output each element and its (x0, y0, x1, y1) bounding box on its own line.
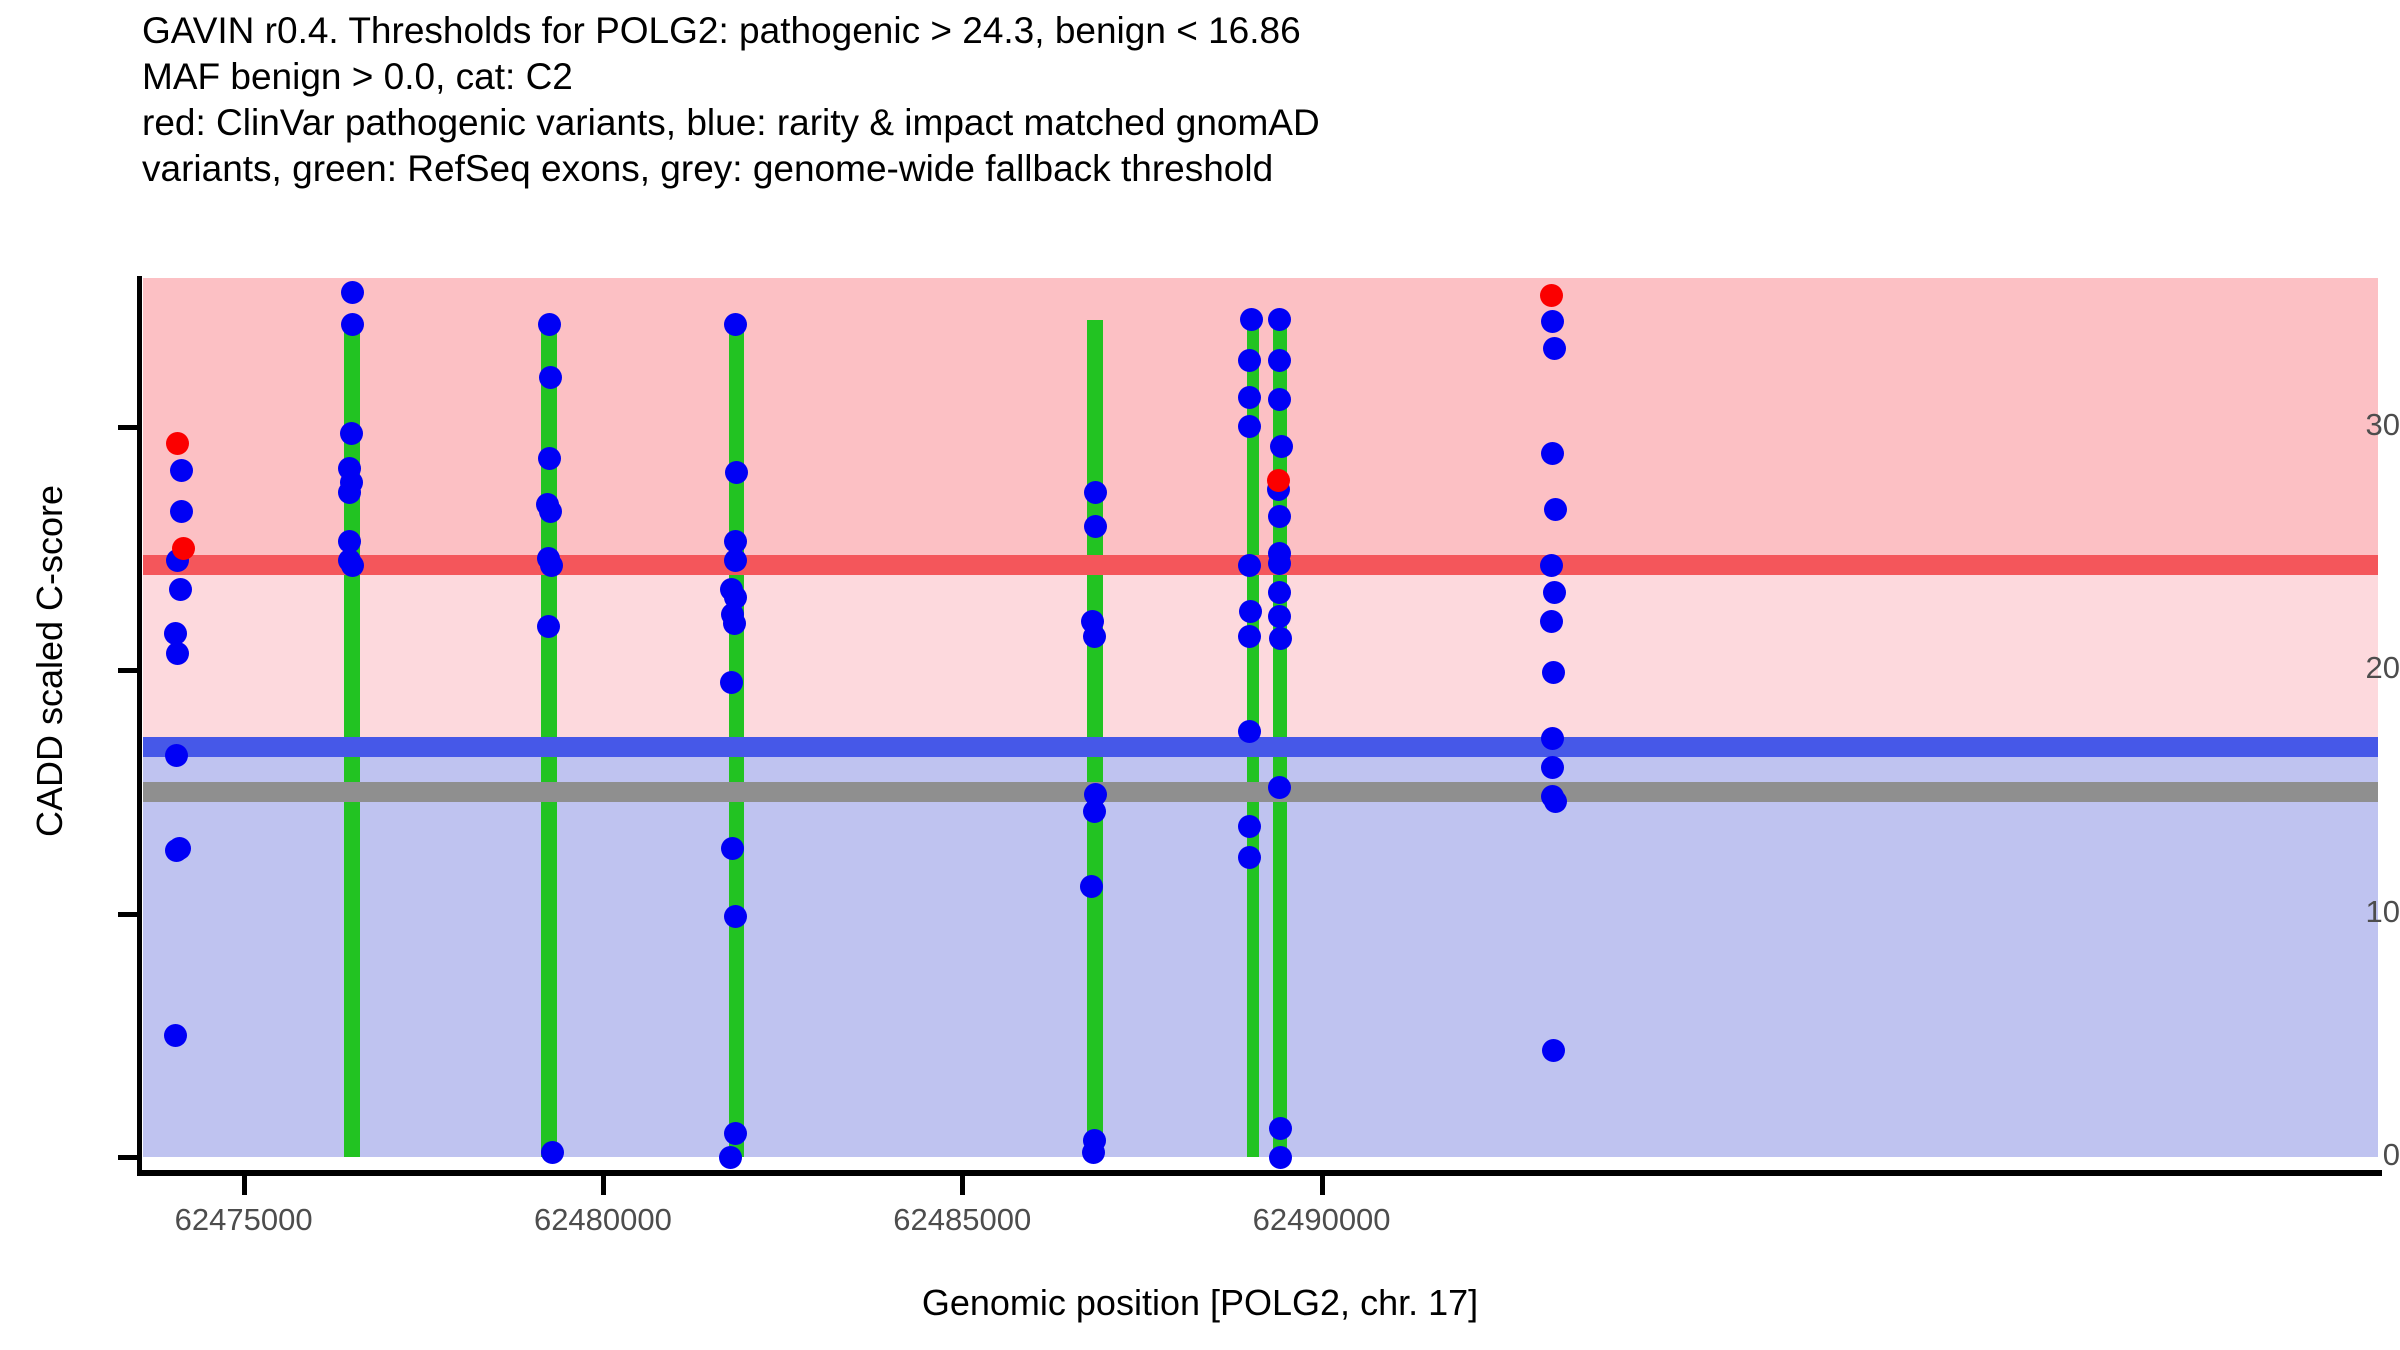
gnomad-variant-point (1543, 581, 1566, 604)
gnomad-variant-point (164, 1024, 187, 1047)
x-axis-line (137, 1170, 2382, 1176)
gnomad-variant-point (1268, 605, 1291, 628)
gnomad-variant-point (170, 500, 193, 523)
gnomad-variant-point (165, 839, 188, 862)
gnomad-variant-point (166, 642, 189, 665)
gnomad-variant-point (1268, 776, 1291, 799)
gnomad-variant-point (1541, 442, 1564, 465)
gnomad-variant-point (1541, 310, 1564, 333)
gnomad-variant-point (1269, 1146, 1292, 1169)
gnomad-variant-point (1268, 581, 1291, 604)
gnomad-variant-point (1238, 625, 1261, 648)
gnomad-variant-point (1238, 386, 1261, 409)
gnomad-variant-point (169, 578, 192, 601)
gnomad-variant-point (1239, 600, 1262, 623)
y-tick-label: 20 (2294, 650, 2400, 686)
clinvar-pathogenic-point (1267, 469, 1290, 492)
x-tick-label: 62480000 (443, 1202, 763, 1238)
gnomad-variant-point (1238, 720, 1261, 743)
gnomad-variant-point (1540, 554, 1563, 577)
gnomad-variant-point (538, 313, 561, 336)
gnomad-variant-point (1542, 1039, 1565, 1062)
title-line-2: MAF benign > 0.0, cat: C2 (142, 54, 2382, 100)
x-tick-mark (960, 1176, 965, 1195)
title-line-4: variants, green: RefSeq exons, grey: gen… (142, 146, 2382, 192)
plot-panel (143, 278, 2378, 1172)
gnomad-variant-point (1544, 498, 1567, 521)
fallback-threshold-line (143, 782, 2378, 802)
x-tick-mark (242, 1176, 247, 1195)
gnomad-variant-point (1238, 415, 1261, 438)
y-tick-mark (118, 912, 137, 917)
gnomad-variant-point (721, 837, 744, 860)
title-line-1: GAVIN r0.4. Thresholds for POLG2: pathog… (142, 8, 2382, 54)
gnomad-variant-point (1083, 800, 1106, 823)
gnomad-variant-point (1083, 625, 1106, 648)
gnomad-variant-point (724, 905, 747, 928)
y-axis-title: CADD scaled C-score (29, 281, 71, 1041)
gnomad-variant-point (1269, 1117, 1292, 1140)
gnomad-variant-point (1540, 610, 1563, 633)
gnomad-variant-point (1543, 337, 1566, 360)
y-tick-mark (118, 425, 137, 430)
y-tick-label: 30 (2294, 407, 2400, 443)
gnomad-variant-point (719, 1146, 742, 1169)
gnomad-variant-point (1238, 349, 1261, 372)
y-tick-mark (118, 668, 137, 673)
band-ambiguous (143, 565, 2378, 746)
x-tick-mark (601, 1176, 606, 1195)
y-axis-line (137, 276, 142, 1174)
chart-title: GAVIN r0.4. Thresholds for POLG2: pathog… (142, 8, 2382, 192)
x-axis-title: Genomic position [POLG2, chr. 17] (0, 1282, 2400, 1324)
gnomad-variant-point (1238, 554, 1261, 577)
gnomad-variant-point (724, 1122, 747, 1145)
gnomad-variant-point (724, 313, 747, 336)
gnomad-variant-point (540, 554, 563, 577)
x-tick-label: 62490000 (1162, 1202, 1482, 1238)
gnomad-variant-point (165, 744, 188, 767)
y-tick-mark (118, 1155, 137, 1160)
gnomad-variant-point (1240, 308, 1263, 331)
y-tick-label: 10 (2294, 894, 2400, 930)
x-tick-mark (1320, 1176, 1325, 1195)
gnomad-variant-point (1270, 435, 1293, 458)
plot-area (143, 278, 2378, 1172)
gnomad-variant-point (538, 447, 561, 470)
gnomad-variant-point (1084, 481, 1107, 504)
gnomad-variant-point (341, 313, 364, 336)
gnomad-variant-point (537, 615, 560, 638)
gnomad-variant-point (338, 481, 361, 504)
y-tick-label: 0 (2294, 1137, 2400, 1173)
title-line-3: red: ClinVar pathogenic variants, blue: … (142, 100, 2382, 146)
gnomad-variant-point (720, 671, 743, 694)
benign-threshold-line (143, 737, 2378, 757)
gnomad-variant-point (1238, 815, 1261, 838)
x-tick-label: 62475000 (84, 1202, 404, 1238)
x-tick-label: 62485000 (802, 1202, 1122, 1238)
gnomad-variant-point (1269, 627, 1292, 650)
clinvar-pathogenic-point (166, 432, 189, 455)
gnomad-variant-point (1544, 790, 1567, 813)
gnomad-variant-point (1268, 505, 1291, 528)
gnomad-variant-point (1268, 552, 1291, 575)
clinvar-pathogenic-point (1540, 284, 1563, 307)
gnomad-variant-point (541, 1141, 564, 1164)
band-benign (143, 747, 2378, 1158)
gnomad-variant-point (1082, 1141, 1105, 1164)
chart-root: GAVIN r0.4. Thresholds for POLG2: pathog… (0, 0, 2400, 1350)
